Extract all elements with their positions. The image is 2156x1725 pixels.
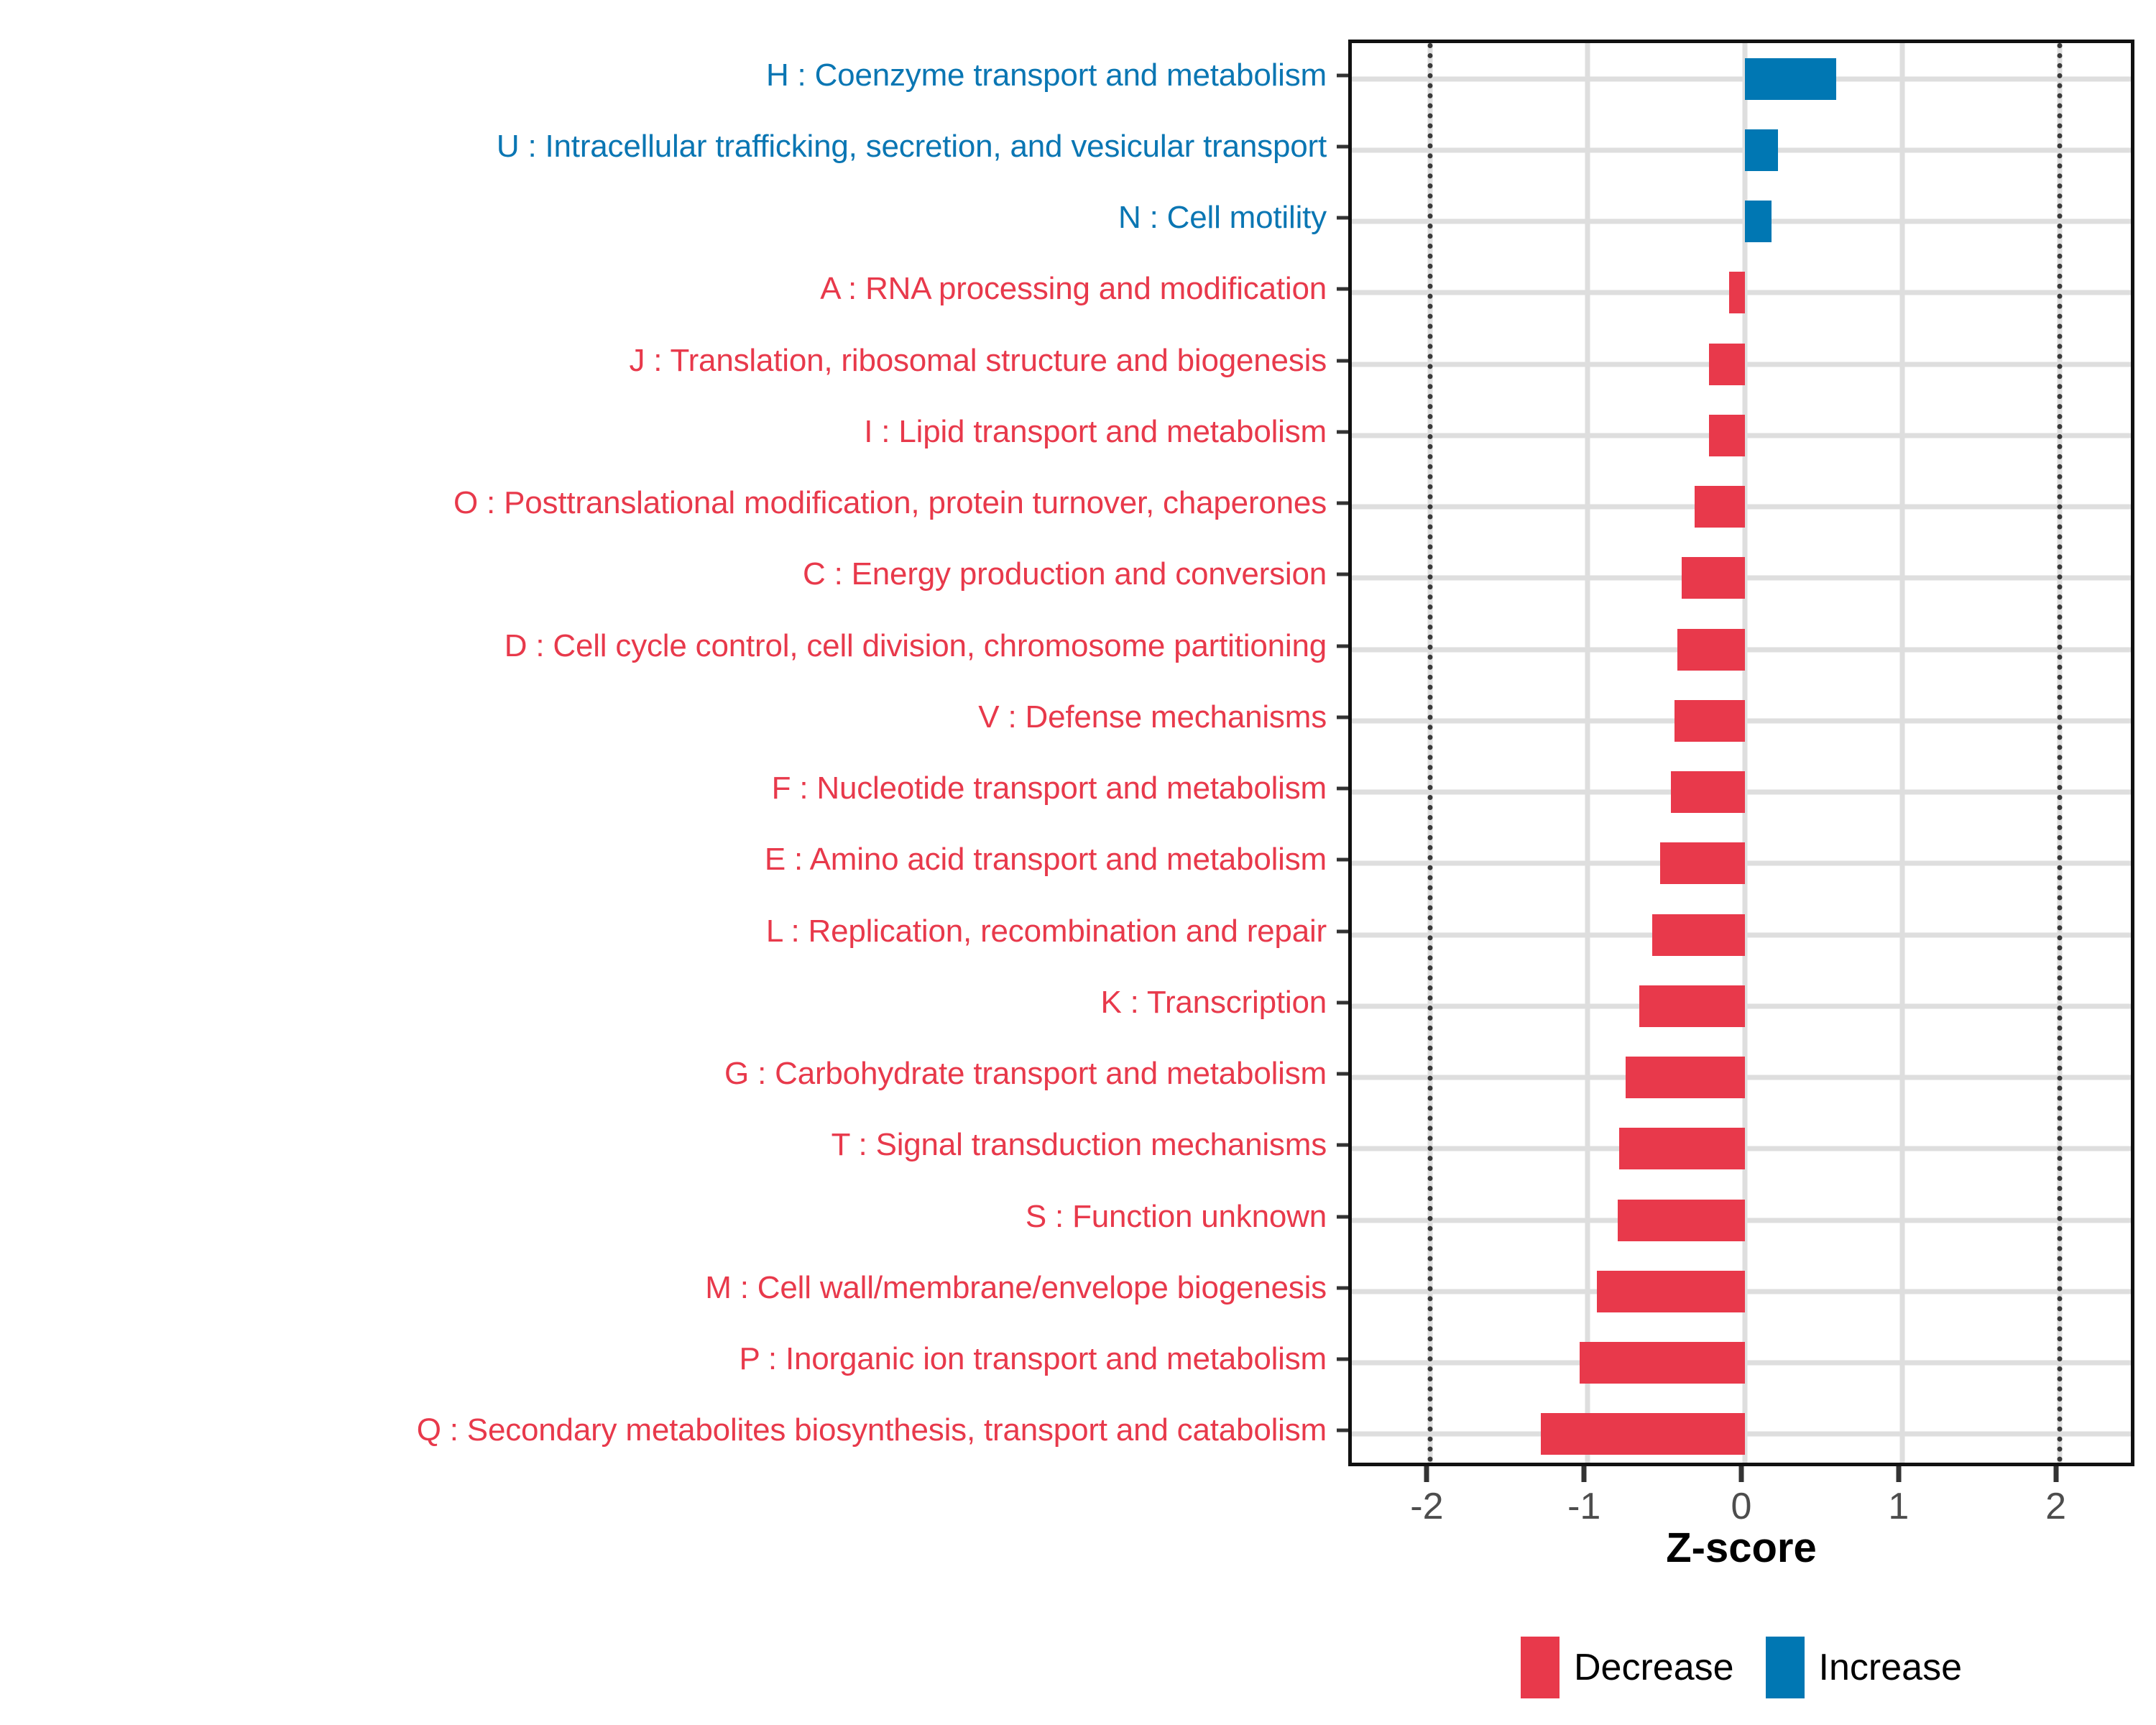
- x-axis-tick-label: 1: [1888, 1485, 1909, 1528]
- x-axis-tick-label: 2: [2045, 1485, 2066, 1528]
- y-axis-tick: [1337, 430, 1348, 433]
- x-axis-tick-label: -1: [1567, 1485, 1600, 1528]
- y-axis-category-label: J : Translation, ribosomal structure and…: [0, 345, 1327, 377]
- bar: [1619, 1128, 1745, 1169]
- y-axis-category-label: Q : Secondary metabolites biosynthesis, …: [0, 1414, 1327, 1446]
- y-axis-category-label: D : Cell cycle control, cell division, c…: [0, 630, 1327, 662]
- y-axis-tick: [1337, 1215, 1348, 1218]
- y-axis-tick: [1337, 1358, 1348, 1361]
- legend-item-decrease: Decrease: [1521, 1637, 1734, 1698]
- x-axis-tick-label: -2: [1410, 1485, 1443, 1528]
- plot-panel-inner: [1352, 43, 2131, 1463]
- y-axis-category-label: M : Cell wall/membrane/envelope biogenes…: [0, 1272, 1327, 1304]
- bar: [1677, 629, 1745, 671]
- x-axis-title: Z-score: [1348, 1524, 2134, 1572]
- y-axis-tick: [1337, 73, 1348, 77]
- y-axis-tick: [1337, 929, 1348, 933]
- bar: [1626, 1057, 1745, 1098]
- gridline-vertical: [1743, 43, 1748, 1463]
- y-axis-tick: [1337, 1286, 1348, 1289]
- x-axis-tick: [1739, 1466, 1744, 1482]
- y-axis-category-label: E : Amino acid transport and metabolism: [0, 844, 1327, 875]
- y-axis-tick: [1337, 502, 1348, 505]
- y-axis-category-label: F : Nucleotide transport and metabolism: [0, 773, 1327, 804]
- y-axis-tick: [1337, 787, 1348, 791]
- x-axis-tick-label: 0: [1731, 1485, 1752, 1528]
- reference-line-dotted: [1428, 43, 1433, 1463]
- bar: [1541, 1413, 1745, 1455]
- y-axis-tick: [1337, 359, 1348, 362]
- y-axis-category-label: U : Intracellular trafficking, secretion…: [0, 131, 1327, 162]
- y-axis-category-label: P : Inorganic ion transport and metaboli…: [0, 1343, 1327, 1375]
- bar: [1674, 700, 1745, 742]
- bar: [1745, 58, 1836, 100]
- bar: [1695, 486, 1745, 528]
- y-axis-tick: [1337, 644, 1348, 648]
- y-axis-category-label: K : Transcription: [0, 987, 1327, 1018]
- bar: [1745, 201, 1772, 242]
- bar: [1597, 1271, 1745, 1312]
- y-axis-category-label: L : Replication, recombination and repai…: [0, 916, 1327, 947]
- y-axis-tick: [1337, 1000, 1348, 1004]
- bar: [1671, 771, 1745, 813]
- x-axis-tick: [1424, 1466, 1429, 1482]
- plot-panel: [1348, 40, 2134, 1466]
- legend-swatch-increase-icon: [1766, 1637, 1805, 1698]
- y-axis-category-label: O : Posttranslational modification, prot…: [0, 487, 1327, 519]
- legend-label-decrease: Decrease: [1574, 1646, 1734, 1689]
- bar: [1580, 1342, 1745, 1384]
- gridline-horizontal: [1352, 219, 2131, 224]
- y-axis-tick: [1337, 573, 1348, 576]
- bar: [1682, 557, 1745, 599]
- reference-line-dotted: [2057, 43, 2062, 1463]
- legend-label-increase: Increase: [1819, 1646, 1962, 1689]
- y-axis-category-label: I : Lipid transport and metabolism: [0, 416, 1327, 448]
- legend-item-increase: Increase: [1766, 1637, 1962, 1698]
- y-axis-label-column: H : Coenzyme transport and metabolismU :…: [0, 40, 1348, 1466]
- y-axis-category-label: C : Energy production and conversion: [0, 558, 1327, 590]
- y-axis-category-label: G : Carbohydrate transport and metabolis…: [0, 1058, 1327, 1090]
- x-axis-tick: [2053, 1466, 2058, 1482]
- y-axis-category-label: N : Cell motility: [0, 202, 1327, 234]
- x-axis-tick: [1896, 1466, 1901, 1482]
- legend-swatch-decrease-icon: [1521, 1637, 1560, 1698]
- bar: [1639, 985, 1745, 1027]
- y-axis-category-label: T : Signal transduction mechanisms: [0, 1129, 1327, 1161]
- y-axis-tick: [1337, 715, 1348, 719]
- bar: [1709, 415, 1745, 456]
- bar: [1652, 914, 1745, 956]
- x-axis-tick: [1582, 1466, 1587, 1482]
- chart-legend: Decrease Increase: [1348, 1628, 2134, 1707]
- y-axis-tick: [1337, 1144, 1348, 1147]
- y-axis-category-label: A : RNA processing and modification: [0, 273, 1327, 305]
- bar: [1660, 842, 1745, 884]
- y-axis-category-label: S : Function unknown: [0, 1201, 1327, 1233]
- y-axis-tick: [1337, 144, 1348, 148]
- gridline-horizontal: [1352, 76, 2131, 81]
- bar: [1745, 129, 1778, 171]
- y-axis-tick: [1337, 858, 1348, 862]
- y-axis-category-label: H : Coenzyme transport and metabolism: [0, 60, 1327, 91]
- gridline-horizontal: [1352, 147, 2131, 152]
- bar: [1709, 344, 1745, 385]
- gridline-vertical: [1585, 43, 1590, 1463]
- y-axis-tick: [1337, 1429, 1348, 1432]
- gridline-vertical: [1899, 43, 1904, 1463]
- bar: [1618, 1200, 1745, 1241]
- y-axis-category-label: V : Defense mechanisms: [0, 701, 1327, 733]
- y-axis-tick: [1337, 1072, 1348, 1076]
- bar: [1729, 272, 1745, 313]
- y-axis-tick: [1337, 287, 1348, 291]
- cog-zscore-bar-chart: H : Coenzyme transport and metabolismU :…: [0, 0, 2156, 1725]
- y-axis-tick: [1337, 216, 1348, 220]
